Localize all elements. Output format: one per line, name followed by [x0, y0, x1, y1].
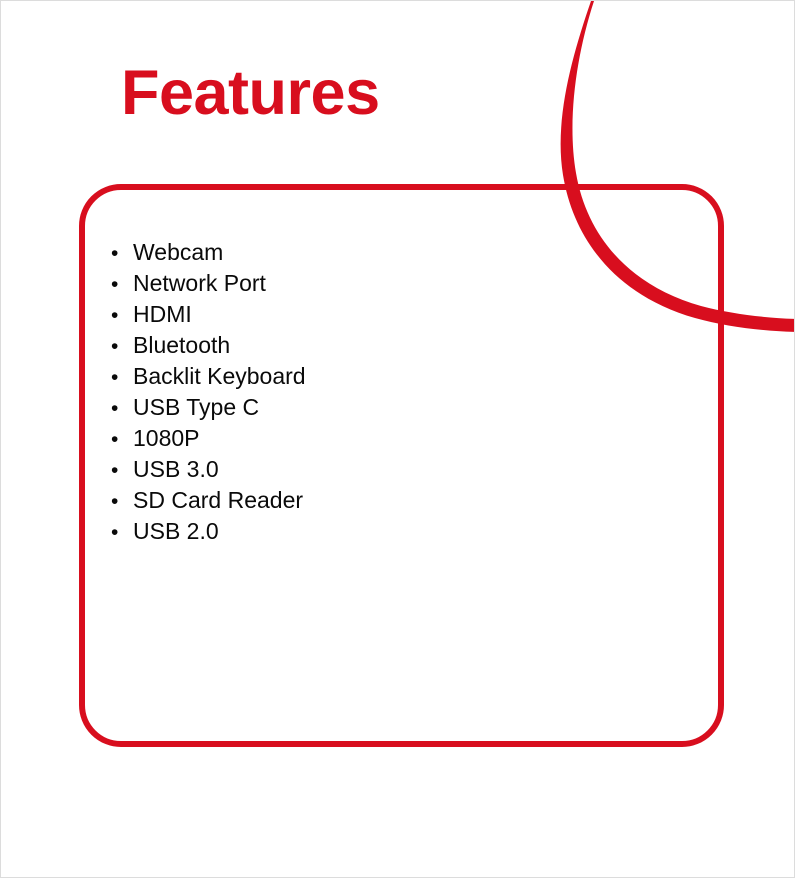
feature-label: Bluetooth — [133, 330, 230, 361]
bullet-icon: • — [111, 300, 133, 331]
bullet-icon: • — [111, 238, 133, 269]
list-item: • Bluetooth — [111, 330, 306, 361]
list-item: • USB Type C — [111, 392, 306, 423]
feature-label: HDMI — [133, 299, 192, 330]
bullet-icon: • — [111, 455, 133, 486]
feature-label: Network Port — [133, 268, 266, 299]
list-item: • Webcam — [111, 237, 306, 268]
list-item: • HDMI — [111, 299, 306, 330]
page-title: Features — [121, 59, 380, 128]
feature-label: SD Card Reader — [133, 485, 303, 516]
feature-label: USB 2.0 — [133, 516, 219, 547]
feature-label: USB Type C — [133, 392, 259, 423]
bullet-icon: • — [111, 331, 133, 362]
bullet-icon: • — [111, 393, 133, 424]
bullet-icon: • — [111, 424, 133, 455]
feature-label: USB 3.0 — [133, 454, 219, 485]
list-item: • USB 3.0 — [111, 454, 306, 485]
bullet-icon: • — [111, 486, 133, 517]
feature-label: 1080P — [133, 423, 200, 454]
list-item: • USB 2.0 — [111, 516, 306, 547]
list-item: • 1080P — [111, 423, 306, 454]
list-item: • SD Card Reader — [111, 485, 306, 516]
bullet-icon: • — [111, 269, 133, 300]
features-page: Features • Webcam • Network Port • HDMI … — [0, 0, 795, 878]
feature-label: Webcam — [133, 237, 223, 268]
feature-label: Backlit Keyboard — [133, 361, 306, 392]
bullet-icon: • — [111, 517, 133, 548]
feature-list: • Webcam • Network Port • HDMI • Bluetoo… — [111, 237, 306, 547]
list-item: • Network Port — [111, 268, 306, 299]
list-item: • Backlit Keyboard — [111, 361, 306, 392]
bullet-icon: • — [111, 362, 133, 393]
